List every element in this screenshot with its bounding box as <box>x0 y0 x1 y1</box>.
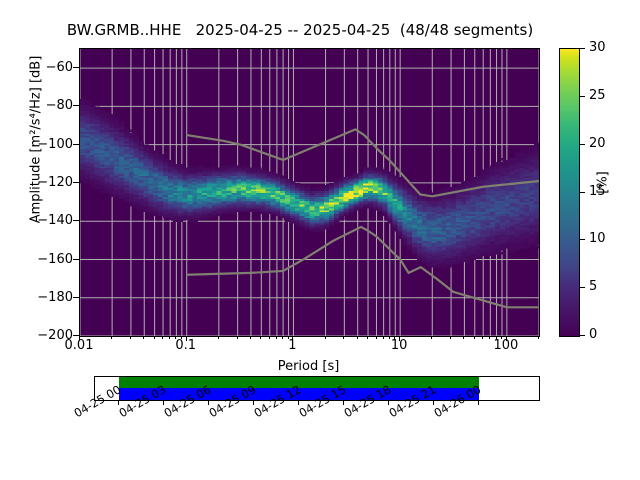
colorbar-tick-label: 10 <box>589 232 606 245</box>
x-tick-mark <box>237 336 238 339</box>
y-tick-label: −180 <box>0 290 82 305</box>
timeline-tick-mark <box>163 400 164 405</box>
noise-model-curves <box>80 49 539 336</box>
timeline-tick-mark <box>343 400 344 405</box>
x-tick-label: 1 <box>262 338 322 353</box>
timeline-tick-mark <box>388 400 389 405</box>
colorbar-label: [%] <box>596 153 611 213</box>
timeline-tick-mark <box>433 400 434 405</box>
x-tick-label: 100 <box>476 338 536 353</box>
colorbar-tick-label: 20 <box>589 137 606 150</box>
x-tick-label: 10 <box>369 338 429 353</box>
x-tick-mark <box>538 336 539 339</box>
x-tick-mark <box>218 336 219 339</box>
ppsd-axes <box>79 48 540 337</box>
x-tick-mark <box>357 336 358 339</box>
x-tick-mark <box>343 336 344 339</box>
x-tick-label: 0.1 <box>156 338 216 353</box>
colorbar-tick-label: 0 <box>589 328 597 341</box>
timeline-tick-mark <box>208 400 209 405</box>
x-tick-mark <box>111 336 112 339</box>
ppsd-plot-area <box>80 49 539 336</box>
colorbar-tick-label: 5 <box>589 280 597 293</box>
x-tick-mark <box>325 336 326 339</box>
colorbar-tick-mark <box>579 335 585 336</box>
x-tick-label: 0.01 <box>49 338 109 353</box>
timeline-tick-mark <box>118 400 119 405</box>
colorbar <box>559 48 580 337</box>
x-tick-mark <box>367 336 368 339</box>
timeline-tick-mark <box>298 400 299 405</box>
x-tick-mark <box>463 336 464 339</box>
colorbar-tick-label: 30 <box>589 41 606 54</box>
x-axis-label: Period [s] <box>79 359 538 374</box>
x-tick-mark <box>260 336 261 339</box>
colorbar-tick-mark <box>579 287 585 288</box>
colorbar-tick-label: 25 <box>589 89 606 102</box>
x-tick-mark <box>130 336 131 339</box>
x-tick-mark <box>154 336 155 339</box>
colorbar-tick-mark <box>579 192 585 193</box>
colorbar-tick-mark <box>579 239 585 240</box>
y-axis-label: Amplitude [m²/s⁴/Hz] [dB] <box>29 20 44 260</box>
ppsd-figure: BW.GRMB..HHE 2025-04-25 -- 2025-04-25 (4… <box>0 0 640 480</box>
colorbar-tick-mark <box>579 96 585 97</box>
x-tick-mark <box>474 336 475 339</box>
colorbar-tick-mark <box>579 144 585 145</box>
page-title: BW.GRMB..HHE 2025-04-25 -- 2025-04-25 (4… <box>0 21 600 39</box>
colorbar-tick-mark <box>579 48 585 49</box>
timeline-tick-mark <box>253 400 254 405</box>
timeline-tick-mark <box>478 400 479 405</box>
x-tick-mark <box>143 336 144 339</box>
x-tick-mark <box>450 336 451 339</box>
x-tick-mark <box>431 336 432 339</box>
x-tick-mark <box>250 336 251 339</box>
